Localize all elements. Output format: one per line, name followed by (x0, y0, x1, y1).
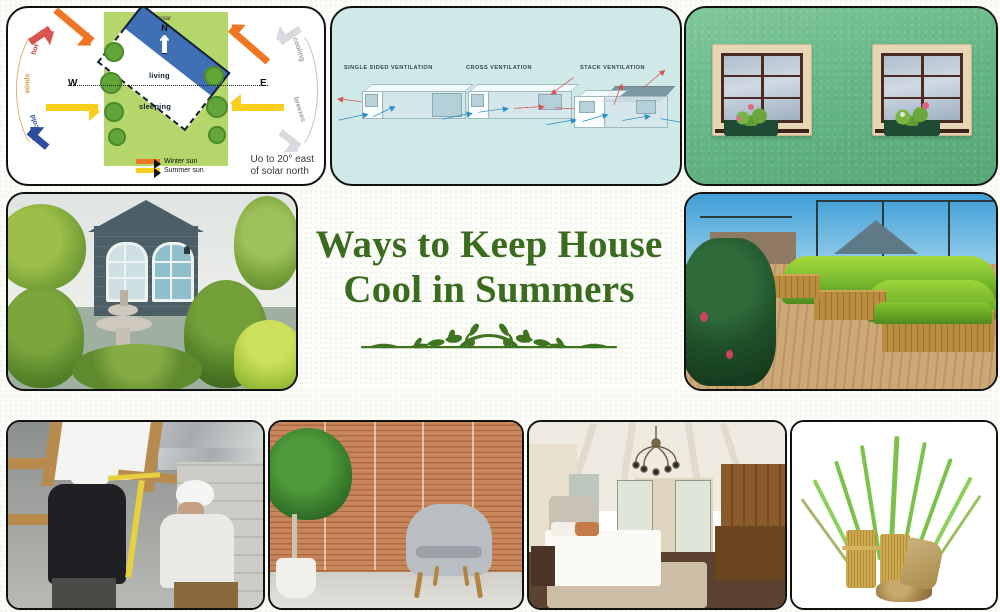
summer-sun-legend-label: Summer sun (164, 167, 204, 174)
armchair-seat-cushion (416, 546, 482, 558)
living-label: living (149, 71, 170, 80)
worker-left-trousers (52, 578, 116, 608)
plant-pot (276, 558, 316, 598)
leaf-vine-flourish-icon (355, 322, 623, 356)
tree-foliage (6, 204, 86, 290)
title-line-1: Ways to Keep House (315, 223, 662, 267)
grass-bundle-left (846, 530, 876, 588)
foreground-shrub (684, 238, 776, 386)
panel-solar-orientation-diagram: living sleeping solar N W E hot winds co… (6, 6, 326, 186)
railing-post (948, 202, 950, 256)
panel-title: Ways to Keep House Cool in Summers (300, 192, 678, 387)
stack-ventilation-label: STACK VENTILATION (580, 65, 645, 71)
flower-bloom-icon (726, 350, 733, 359)
bed (545, 530, 661, 586)
armchair (406, 504, 492, 576)
single-sided-ventilation-label: SINGLE SIDED VENTILATION (344, 65, 433, 71)
ground-planting (72, 344, 202, 391)
flower-foliage-right (890, 104, 936, 126)
winter-sun-legend-label: Winter sun (164, 158, 197, 165)
solar-north-note: Uo to 20° east of solar north (251, 154, 314, 177)
stack-room-diagram (560, 74, 680, 126)
potted-tree-foliage (268, 428, 352, 520)
planter-foliage (874, 302, 992, 324)
sun-legend: Winter sun Summer sun (136, 158, 204, 176)
north-arrow-icon (159, 34, 170, 54)
railing-post (816, 202, 818, 264)
tree-icon (104, 42, 124, 62)
title-line-2: Cool in Summers (315, 268, 662, 312)
panel-wooden-blinds-photo (268, 420, 524, 610)
tree-icon (104, 102, 124, 122)
wall-lamp-icon (184, 246, 190, 254)
flower-bloom-icon (900, 112, 905, 117)
tree-icon (100, 72, 122, 94)
note-line-2: of solar north (251, 166, 314, 178)
east-west-axis (68, 85, 268, 86)
legend-row: Summer sun (136, 167, 204, 174)
window-opening (579, 101, 595, 113)
flower-bloom-icon (736, 116, 741, 121)
console-table (715, 526, 785, 580)
airflow-out-arrow (342, 99, 362, 103)
flower-bloom-icon (700, 312, 708, 322)
fountain-finial (120, 290, 128, 306)
poster: living sleeping solar N W E hot winds co… (0, 0, 1000, 612)
north-indicator: solar N (158, 16, 171, 54)
railing-bar (700, 216, 792, 218)
single-sided-room-diagram (350, 84, 470, 124)
tree-icon (204, 66, 224, 86)
panel-green-wall-windows-photo (684, 6, 998, 186)
flower-bloom-icon (748, 104, 754, 110)
note-line-1: Uo to 20° east (251, 154, 314, 166)
ornamental-grass (234, 320, 298, 390)
roof-beam (8, 458, 56, 469)
window-opening (365, 94, 378, 107)
worker-right (160, 514, 234, 588)
tree-foliage (234, 196, 298, 290)
railing-bar (816, 200, 994, 202)
panel-ventilation-types-diagram: SINGLE SIDED VENTILATION CROSS VENTILATI… (330, 6, 682, 186)
tool-belt (174, 582, 238, 608)
panel-garden-cottage-photo (6, 192, 298, 391)
summer-sun-swatch-icon (136, 168, 160, 173)
cross-ventilation-label: CROSS VENTILATION (466, 65, 532, 71)
window-opening (636, 100, 656, 114)
flower-bloom-icon (922, 102, 929, 109)
page-title: Ways to Keep House Cool in Summers (315, 223, 662, 312)
panel-bedroom-interior-photo (527, 420, 787, 610)
worker-left (48, 484, 126, 584)
tree-icon (206, 96, 228, 118)
sleeping-label: sleeping (139, 102, 171, 111)
winter-sun-swatch-icon (136, 159, 160, 164)
airflow-in-arrow (338, 114, 364, 120)
chandelier-icon (627, 426, 685, 478)
north-label: N (158, 23, 171, 33)
binding-band (842, 546, 880, 550)
legend-row: Winter sun (136, 158, 204, 165)
panel-attic-insulation-photo (6, 420, 265, 610)
north-sublabel: solar (158, 16, 171, 22)
pillow (551, 522, 577, 536)
tree-icon (108, 128, 126, 146)
winds-label: winds (24, 74, 31, 94)
accent-pillow (575, 522, 599, 536)
tree-icon (208, 126, 226, 144)
panel-rooftop-garden-photo (684, 192, 998, 391)
french-door (675, 480, 711, 554)
nightstand (531, 546, 555, 586)
panel-khus-vetiver-grass-photo (790, 420, 998, 610)
window-opening (471, 94, 484, 107)
blind-cord (374, 422, 376, 570)
